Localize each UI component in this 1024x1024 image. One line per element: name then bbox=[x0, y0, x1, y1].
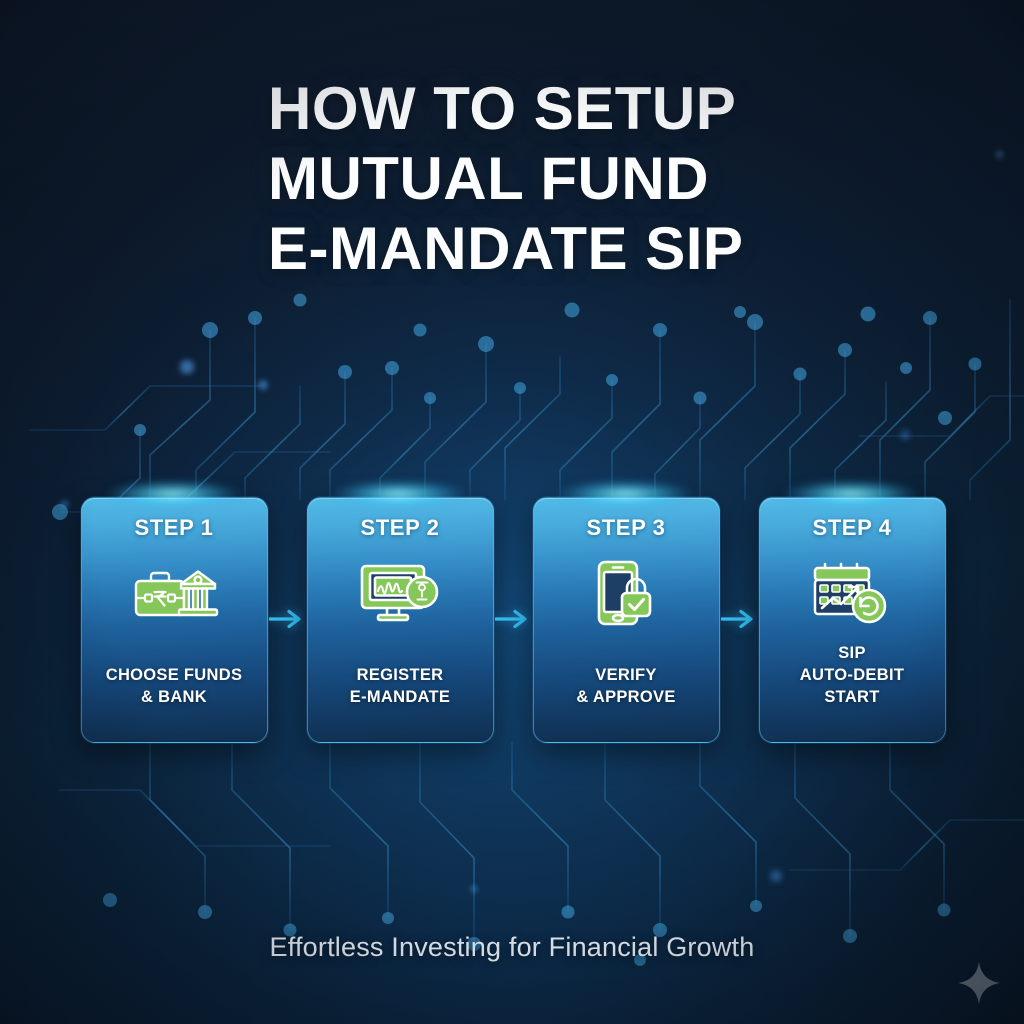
title-line-1: HOW TO SETUP bbox=[268, 74, 743, 144]
arrow-right-icon bbox=[495, 608, 529, 630]
step-label-4: STEP 4 bbox=[812, 515, 891, 541]
arrow-right-icon bbox=[721, 608, 755, 630]
sparkle-icon bbox=[956, 960, 1002, 1006]
step-card-wrapper-2: STEP 2 bbox=[307, 497, 492, 741]
step-label-1: STEP 1 bbox=[134, 515, 213, 541]
connector-arrow-3 bbox=[718, 497, 759, 741]
step-card-wrapper-3: STEP 3 bbox=[533, 497, 718, 741]
ambient-glow-dot bbox=[258, 380, 268, 390]
infographic-poster: HOW TO SETUP MUTUAL FUND E-MANDATE SIP S… bbox=[0, 0, 1024, 1024]
connector-arrow-1 bbox=[266, 497, 307, 741]
caption-line: REGISTER bbox=[308, 664, 493, 686]
step-card-4[interactable]: STEP 4 bbox=[759, 497, 946, 743]
caption-line: E-MANDATE bbox=[308, 686, 493, 708]
calendar-growth-refresh-icon bbox=[809, 557, 895, 629]
title-line-2: MUTUAL FUND bbox=[268, 144, 743, 214]
poster-tagline: Effortless Investing for Financial Growt… bbox=[0, 932, 1024, 963]
step-label-2: STEP 2 bbox=[360, 515, 439, 541]
briefcase-rupee-bank-icon bbox=[131, 557, 217, 629]
caption-line: VERIFY bbox=[534, 664, 719, 686]
caption-line: CHOOSE FUNDS bbox=[82, 664, 267, 686]
step-caption-4: SIP AUTO-DEBIT START bbox=[760, 642, 945, 708]
step-caption-3: VERIFY & APPROVE bbox=[534, 664, 719, 708]
caption-line: AUTO-DEBIT bbox=[760, 664, 945, 686]
arrow-right-icon bbox=[269, 608, 303, 630]
steps-row: STEP 1 bbox=[0, 497, 1024, 741]
phone-lock-check-icon bbox=[583, 557, 669, 629]
step-caption-1: CHOOSE FUNDS & BANK bbox=[82, 664, 267, 708]
step-card-wrapper-1: STEP 1 bbox=[81, 497, 266, 741]
caption-line: & BANK bbox=[82, 686, 267, 708]
ambient-glow-dot bbox=[470, 885, 478, 893]
step-card-1[interactable]: STEP 1 bbox=[81, 497, 268, 743]
ambient-glow-dot bbox=[995, 150, 1004, 159]
step-card-wrapper-4: STEP 4 bbox=[759, 497, 944, 741]
ambient-glow-dot bbox=[900, 430, 910, 440]
title-line-3: E-MANDATE SIP bbox=[268, 214, 743, 284]
ambient-glow-dot bbox=[770, 870, 782, 882]
monitor-signature-stamp-icon bbox=[357, 557, 443, 629]
poster-title: HOW TO SETUP MUTUAL FUND E-MANDATE SIP bbox=[268, 74, 743, 284]
step-label-3: STEP 3 bbox=[586, 515, 665, 541]
caption-line: SIP bbox=[760, 642, 945, 664]
connector-arrow-2 bbox=[492, 497, 533, 741]
step-caption-2: REGISTER E-MANDATE bbox=[308, 664, 493, 708]
caption-line: START bbox=[760, 686, 945, 708]
step-card-2[interactable]: STEP 2 bbox=[307, 497, 494, 743]
caption-line: & APPROVE bbox=[534, 686, 719, 708]
ambient-glow-dot bbox=[180, 360, 194, 374]
step-card-3[interactable]: STEP 3 bbox=[533, 497, 720, 743]
